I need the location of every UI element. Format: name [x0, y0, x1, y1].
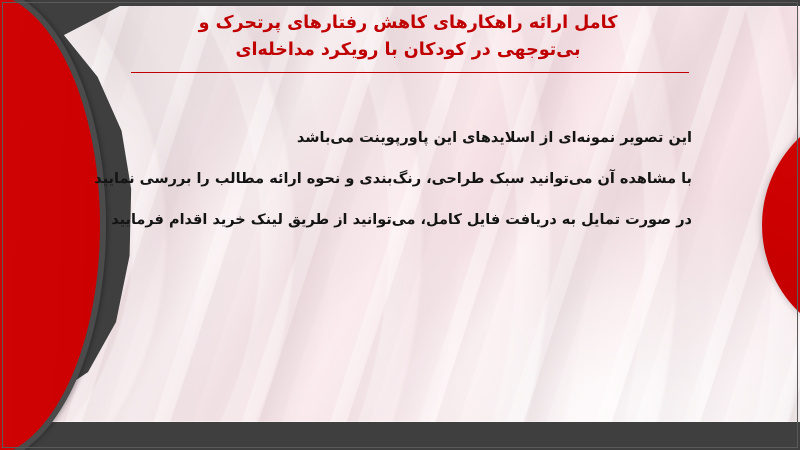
- title-underline-rule: [131, 72, 689, 73]
- slide-title-line-2: بی‌توجهی در کودکان با رویکرد مداخله‌ای: [120, 37, 696, 64]
- slide-title: کامل ارائه راهکارهای کاهش رفتارهای پرتحر…: [120, 10, 696, 64]
- body-text-line-1: این تصویر نمونه‌ای از اسلایدهای این پاور…: [132, 118, 692, 159]
- presentation-slide: کامل ارائه راهکارهای کاهش رفتارهای پرتحر…: [0, 0, 800, 450]
- slide-title-line-1: کامل ارائه راهکارهای کاهش رفتارهای پرتحر…: [120, 10, 696, 37]
- slide-body-text: این تصویر نمونه‌ای از اسلایدهای این پاور…: [132, 118, 692, 241]
- body-text-line-3: در صورت تمایل به دریافت فایل کامل، می‌تو…: [132, 200, 692, 241]
- body-text-line-2: با مشاهده آن می‌توانید سبک طراحی، رنگ‌بن…: [132, 159, 692, 200]
